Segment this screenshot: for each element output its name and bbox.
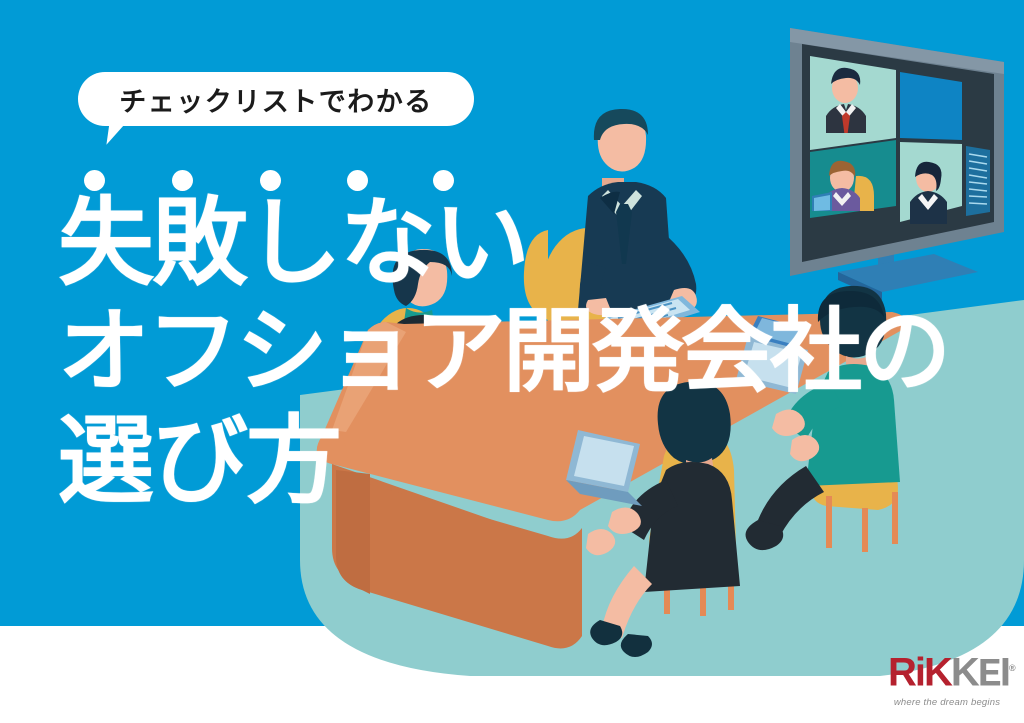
logo-letter-i2: I <box>1000 650 1009 694</box>
monitor-tile-top-right <box>900 72 962 140</box>
monitor-sidebar-panel <box>966 146 990 216</box>
emphasis-dots <box>84 170 454 192</box>
logo-letter-e: E <box>978 653 1000 698</box>
banner-canvas: チェックリストでわかる 失敗しない オフショア開発会社の 選び方 RiKKEI®… <box>0 0 1024 723</box>
rikkei-logo: RiKKEI® where the dream begins <box>888 648 1006 706</box>
emphasis-dot <box>84 170 105 191</box>
headline-line-1: 失敗しない <box>58 196 958 292</box>
logo-letter-k2: K <box>951 650 978 694</box>
eyebrow-text: チェックリストでわかる <box>119 80 433 119</box>
monitor-tile-top-left <box>810 56 896 150</box>
logo-tagline: where the dream begins <box>888 697 1006 708</box>
emphasis-dot <box>433 170 454 191</box>
registered-trademark-icon: ® <box>1009 663 1014 673</box>
emphasis-dot <box>172 170 193 191</box>
logo-wordmark: RiKKEI® <box>888 648 1006 696</box>
eyebrow-speech-bubble: チェックリストでわかる <box>78 72 474 126</box>
logo-letter-r: R <box>888 650 915 694</box>
headline-block: 失敗しない オフショア開発会社の 選び方 <box>58 196 958 510</box>
emphasis-dot <box>260 170 281 191</box>
logo-letter-k1: K <box>924 650 951 694</box>
logo-letter-i: i <box>915 650 924 694</box>
speech-bubble-tail <box>106 121 125 147</box>
emphasis-dot <box>347 170 368 191</box>
headline-line-3: 選び方 <box>58 414 958 510</box>
headline-line-2: オフショア開発会社の <box>58 306 958 398</box>
